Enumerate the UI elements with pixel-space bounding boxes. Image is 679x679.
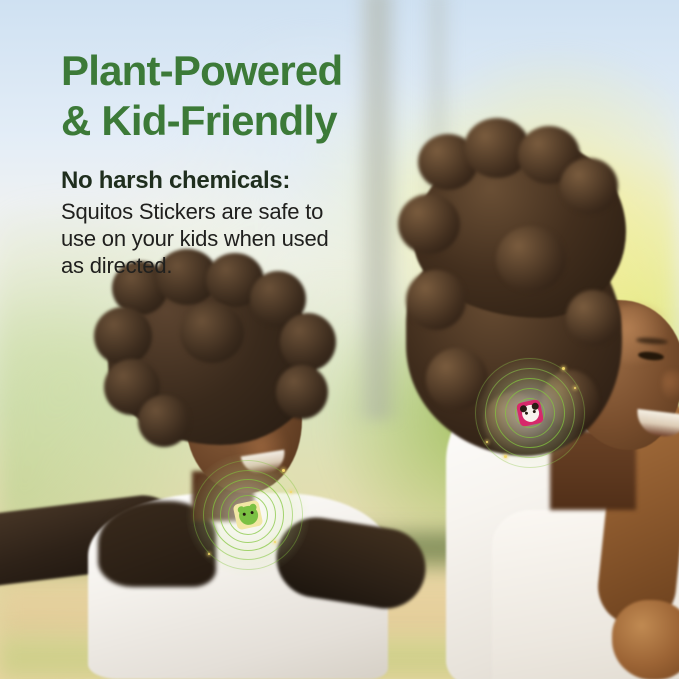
marketing-image-scene: Plant-Powered & Kid-Friendly No harsh ch… [0,0,679,679]
frog-eye-bump [248,503,256,511]
sparkle [574,387,576,389]
body-copy-line-2: use on your kids when used [61,225,381,252]
hair-curl [138,395,190,447]
right-child-fist [612,600,679,679]
headline-line-1: Plant-Powered [61,46,481,96]
headline-line-2: & Kid-Friendly [61,96,481,146]
hair-curl [496,226,566,292]
sticker-left-frog [178,445,318,585]
sparkle [274,541,276,543]
hair-curl [406,270,466,330]
sparkle [562,367,565,370]
sticker-right-panda [470,353,590,473]
hair-curl [276,365,328,419]
frog-face [237,504,260,527]
frog-sticker-tile [233,500,264,531]
panda-eye [532,409,536,413]
sparkle [290,491,292,493]
hair-curl [398,194,460,254]
body-copy-line-1: Squitos Stickers are safe to [61,198,381,225]
panda-ear [530,402,538,410]
subhead: No harsh chemicals: [61,166,290,196]
hair-curl [560,158,618,214]
panda-face [520,403,540,423]
right-child-nose [662,370,679,400]
hair-curl [566,290,620,346]
panda-sticker-tile [516,399,544,427]
body-copy: Squitos Stickers are safe to use on your… [61,198,381,279]
headline: Plant-Powered & Kid-Friendly [61,46,481,146]
hair-curl [180,303,244,363]
hair-curl [280,313,336,371]
frog-eye [242,512,246,516]
sparkle [504,455,507,458]
sparkle [208,553,210,555]
hair-curl [94,307,152,365]
body-copy-line-3: as directed. [61,252,381,279]
panda-eye [524,411,528,415]
frog-eye [250,510,254,514]
sparkle [486,441,488,443]
sparkle [282,469,285,472]
